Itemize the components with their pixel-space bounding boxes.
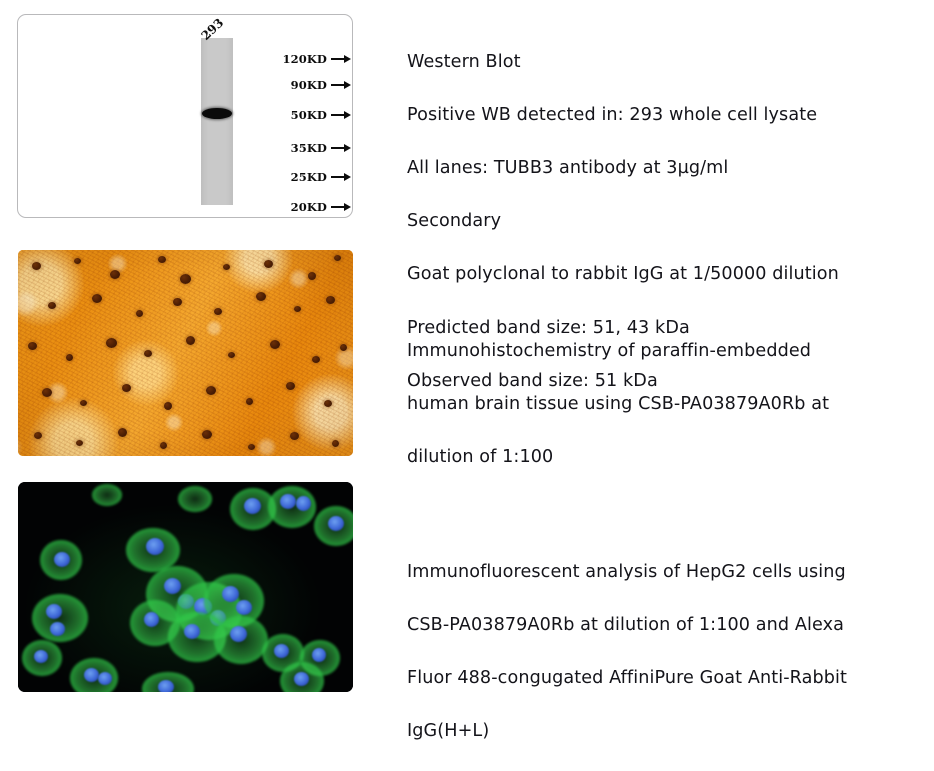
caption-line: Secondary [407, 208, 927, 235]
caption-line: Immunohistochemistry of paraffin-embedde… [407, 338, 927, 365]
caption-line: Goat polyclonal to rabbit IgG at 1/50000… [407, 261, 927, 288]
if-nucleus [46, 604, 62, 619]
if-nucleus [144, 612, 159, 627]
mw-marker-label: 120KD [283, 52, 327, 66]
if-nucleus [222, 586, 239, 602]
arrow-right-icon [331, 80, 352, 90]
mw-marker-label: 20KD [291, 200, 327, 214]
if-nucleus [244, 498, 261, 514]
arrow-right-icon [331, 110, 352, 120]
if-nucleus [158, 680, 174, 692]
western-blot-image: 293 120KD 90KD 50KD 35KD 25KD [18, 15, 352, 217]
if-nucleus [164, 578, 181, 594]
immunofluorescence-panel [18, 482, 353, 692]
if-nucleus [54, 552, 70, 567]
mw-marker-label: 25KD [291, 170, 327, 184]
caption-line: Immunofluorescent analysis of HepG2 cell… [407, 559, 927, 586]
arrow-right-icon [331, 143, 352, 153]
if-nucleus [294, 672, 309, 686]
caption-line: Western Blot [407, 49, 927, 76]
arrow-right-icon [331, 54, 352, 64]
if-nucleus [280, 494, 296, 509]
if-nucleus [146, 538, 164, 555]
mw-marker-25kd: 25KD [174, 170, 352, 184]
immunohistochemistry-panel [18, 250, 353, 456]
caption-line: Positive WB detected in: 293 whole cell … [407, 102, 927, 129]
mw-marker-35kd: 35KD [174, 141, 352, 155]
ihc-vignette [18, 250, 353, 456]
mw-marker-50kd: 50KD [174, 108, 352, 122]
caption-line: CSB-PA03879A0Rb at dilution of 1:100 and… [407, 612, 927, 639]
if-nucleus [312, 648, 326, 662]
caption-line: Fluor 488-congugated AffiniPure Goat Ant… [407, 665, 927, 692]
mw-marker-120kd: 120KD [174, 52, 352, 66]
if-cytoplasm [92, 484, 122, 506]
caption-line: human brain tissue using CSB-PA03879A0Rb… [407, 391, 927, 418]
caption-line: dilution of 1:100 [407, 444, 927, 471]
if-nucleus [34, 650, 48, 663]
arrow-right-icon [331, 202, 352, 212]
antibody-validation-figure: 293 120KD 90KD 50KD 35KD 25KD [0, 0, 934, 706]
if-nucleus [50, 622, 65, 636]
caption-line: IgG(H+L) [407, 718, 927, 745]
mw-marker-label: 90KD [291, 78, 327, 92]
mw-marker-label: 50KD [291, 108, 327, 122]
immunohistochemistry-caption: Immunohistochemistry of paraffin-embedde… [407, 311, 927, 497]
if-nucleus [184, 624, 200, 639]
if-nucleus [230, 626, 247, 642]
mw-marker-90kd: 90KD [174, 78, 352, 92]
if-nucleus [274, 644, 289, 658]
mw-marker-label: 35KD [291, 141, 327, 155]
if-nucleus [296, 496, 311, 511]
immunofluorescence-caption: Immunofluorescent analysis of HepG2 cell… [407, 532, 927, 771]
western-blot-panel: 293 120KD 90KD 50KD 35KD 25KD [17, 14, 353, 218]
mw-marker-20kd: 20KD [174, 200, 352, 214]
if-cells-layer [18, 482, 353, 692]
if-cytoplasm [178, 486, 212, 512]
if-nucleus [328, 516, 344, 531]
if-nucleus [98, 672, 112, 685]
arrow-right-icon [331, 172, 352, 182]
if-nucleus [236, 600, 252, 615]
caption-line: All lanes: TUBB3 antibody at 3µg/ml [407, 155, 927, 182]
if-nucleus [84, 668, 99, 682]
